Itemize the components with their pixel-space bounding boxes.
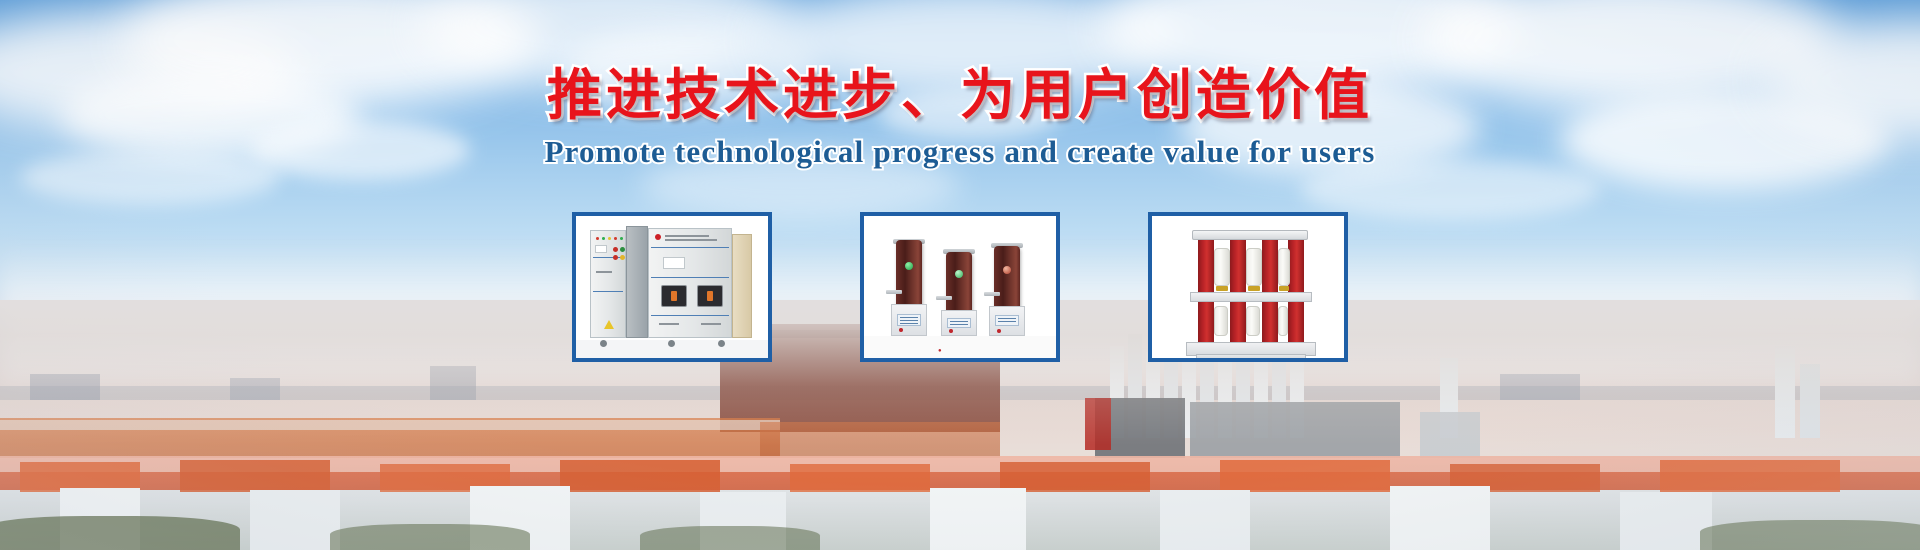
switchgear-cabinet-image (576, 216, 768, 358)
vacuum-contactor-poles-image: ● (864, 216, 1056, 358)
page-title: 推进技术进步、为用户创造价值 (0, 50, 1920, 130)
product-panel-vacuum-contactor-poles[interactable]: ● (860, 212, 1060, 362)
product-panel-switchgear[interactable] (572, 212, 772, 362)
red-contactor-assembly-image (1152, 216, 1344, 358)
product-panel-red-contactor[interactable] (1148, 212, 1348, 362)
page-subtitle: Promote technological progress and creat… (0, 134, 1920, 170)
watermark-logo: ● (938, 348, 942, 354)
product-image-row: ● (0, 212, 1920, 362)
promo-banner: 推进技术进步、为用户创造价值 Promote technological pro… (0, 0, 1920, 550)
